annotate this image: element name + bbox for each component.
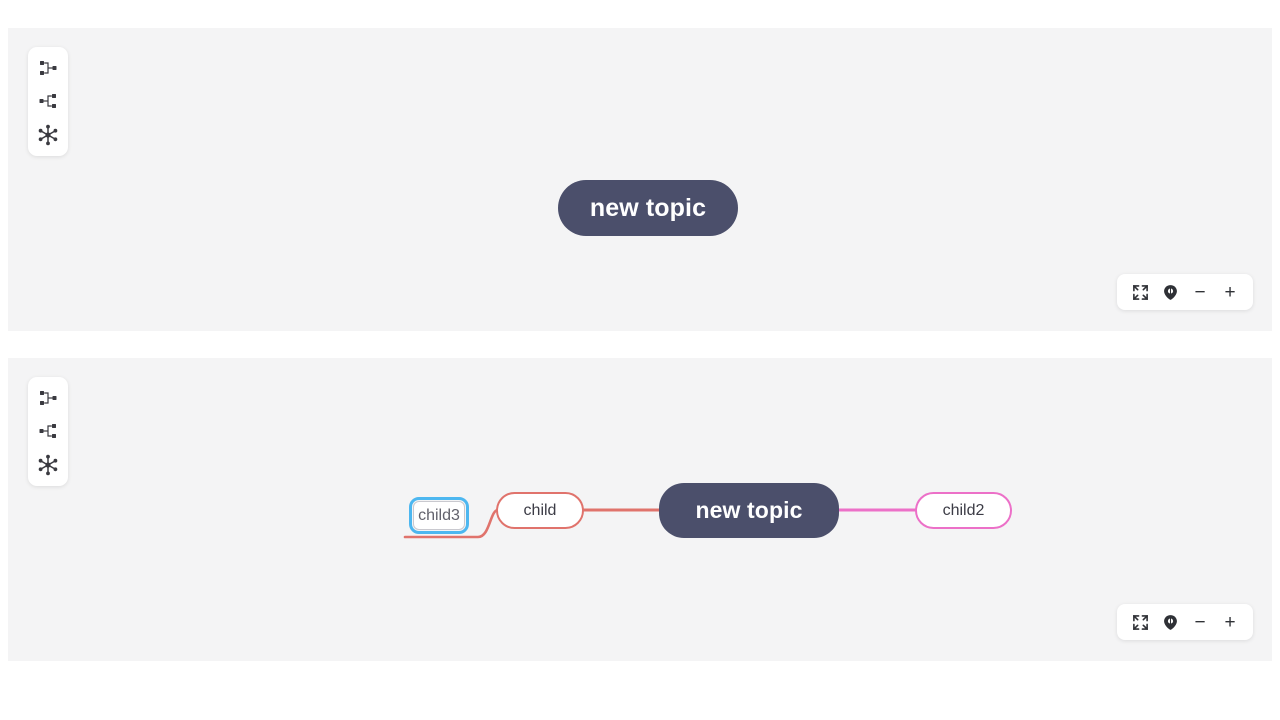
plus-icon: + <box>1224 283 1235 302</box>
mindmap-canvas-bottom[interactable]: new topic child child2 child3 <box>8 358 1272 661</box>
mindmap-node-child2[interactable]: child2 <box>915 492 1012 529</box>
layout-right-button[interactable] <box>34 384 62 412</box>
radial-layout-icon <box>37 124 59 146</box>
tree-layout-right-icon <box>38 58 58 78</box>
zoom-in-button[interactable]: + <box>1217 279 1243 305</box>
child-node-label: child <box>524 502 557 520</box>
layout-toolbar-bottom <box>28 377 68 486</box>
child3-node-label: child3 <box>418 507 460 525</box>
zoom-in-button[interactable]: + <box>1217 609 1243 635</box>
tree-layout-left-icon <box>38 421 58 441</box>
tree-layout-left-icon <box>38 91 58 111</box>
fullscreen-expand-icon <box>1132 614 1149 631</box>
center-locate-icon <box>1162 614 1179 631</box>
zoom-out-button[interactable]: − <box>1187 609 1213 635</box>
layout-left-button[interactable] <box>34 87 62 115</box>
layout-left-button[interactable] <box>34 417 62 445</box>
minus-icon: − <box>1194 283 1205 302</box>
fullscreen-expand-icon <box>1132 284 1149 301</box>
fullscreen-button[interactable] <box>1127 279 1153 305</box>
mindmap-node-child3-selected[interactable]: child3 <box>413 501 465 530</box>
view-control-bar-top: − + <box>1117 274 1253 310</box>
tree-layout-right-icon <box>38 388 58 408</box>
mindmap-canvas-top[interactable]: new topic − <box>8 28 1272 331</box>
root-node-label: new topic <box>590 194 706 223</box>
mindmap-root-node-top[interactable]: new topic <box>558 180 738 236</box>
center-view-button[interactable] <box>1157 279 1183 305</box>
radial-layout-icon <box>37 454 59 476</box>
app-root: new topic − <box>0 0 1280 720</box>
fullscreen-button[interactable] <box>1127 609 1153 635</box>
layout-toolbar-top <box>28 47 68 156</box>
center-locate-icon <box>1162 284 1179 301</box>
layout-right-button[interactable] <box>34 54 62 82</box>
center-view-button[interactable] <box>1157 609 1183 635</box>
plus-icon: + <box>1224 613 1235 632</box>
child2-node-label: child2 <box>943 502 985 520</box>
zoom-out-button[interactable]: − <box>1187 279 1213 305</box>
minus-icon: − <box>1194 613 1205 632</box>
mindmap-edge-layer <box>8 358 1272 661</box>
view-control-bar-bottom: − + <box>1117 604 1253 640</box>
mindmap-node-child[interactable]: child <box>496 492 584 529</box>
layout-radial-button[interactable] <box>34 121 62 149</box>
root-node-label: new topic <box>696 497 803 524</box>
layout-radial-button[interactable] <box>34 451 62 479</box>
mindmap-root-node-bottom[interactable]: new topic <box>659 483 839 538</box>
